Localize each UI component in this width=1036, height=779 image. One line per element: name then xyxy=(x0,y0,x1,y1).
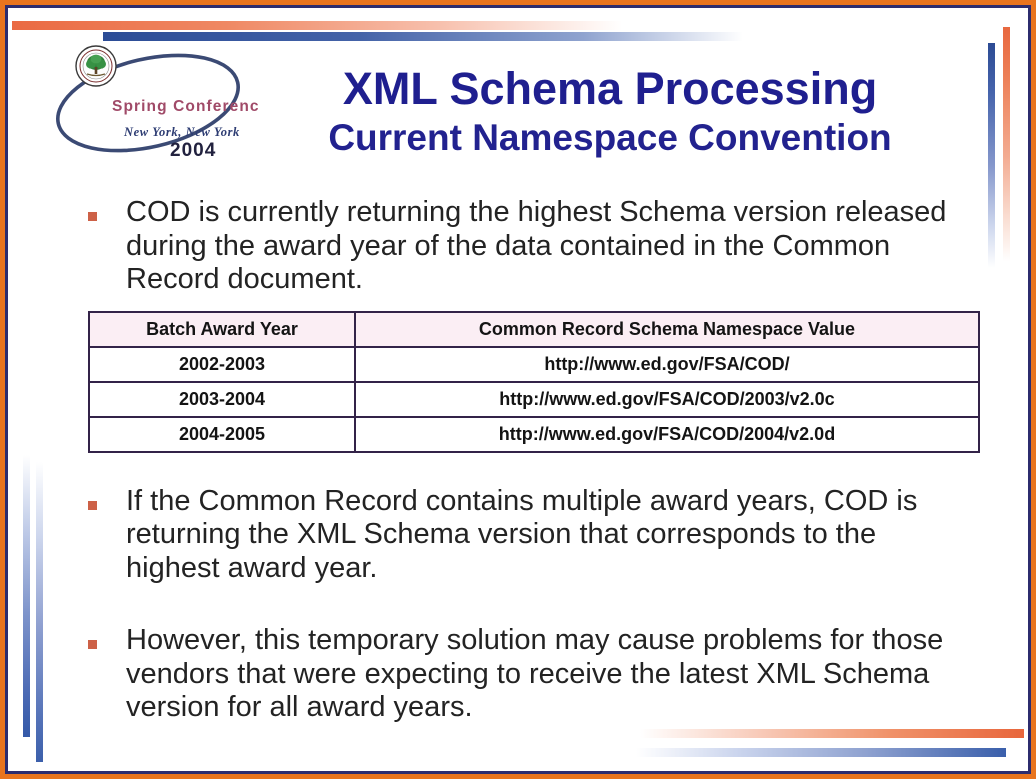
spacer-after-bullet-1 xyxy=(88,297,968,311)
right-blue-accent-bar xyxy=(988,43,995,268)
cell-namespace-value-3: http://www.ed.gov/FSA/COD/2004/v2.0d xyxy=(355,417,979,452)
table-header-row: Batch Award Year Common Record Schema Na… xyxy=(89,312,979,347)
logo-year-text: 2004 xyxy=(170,140,216,161)
left-blue-accent-bar-2 xyxy=(36,462,43,762)
top-orange-accent-bar xyxy=(12,21,622,30)
cell-namespace-value-1: http://www.ed.gov/FSA/COD/ xyxy=(355,347,979,382)
table-row: 2002-2003 http://www.ed.gov/FSA/COD/ xyxy=(89,347,979,382)
bottom-blue-accent-bar xyxy=(636,748,1006,757)
square-bullet-icon xyxy=(88,212,97,221)
square-bullet-icon xyxy=(88,501,97,510)
bullet-item-3-text: However, this temporary solution may cau… xyxy=(126,624,968,725)
spacer-after-bullet-2 xyxy=(88,585,968,624)
bullet-item-2-text: If the Common Record contains multiple a… xyxy=(126,485,968,586)
table-header-namespace-value: Common Record Schema Namespace Value xyxy=(355,312,979,347)
spring-conference-logo: Spring Conference New York, New York 200… xyxy=(48,44,260,162)
table-row: 2003-2004 http://www.ed.gov/FSA/COD/2003… xyxy=(89,382,979,417)
cell-award-year-1: 2002-2003 xyxy=(89,347,355,382)
logo-location-text: New York, New York xyxy=(123,125,240,139)
right-orange-accent-bar xyxy=(1003,27,1010,262)
bullet-item-2: If the Common Record contains multiple a… xyxy=(88,485,968,586)
square-bullet-icon xyxy=(88,640,97,649)
tree-seal-icon xyxy=(76,46,116,86)
namespace-table-wrapper: Batch Award Year Common Record Schema Na… xyxy=(88,311,974,453)
bullet-item-1-text: COD is currently returning the highest S… xyxy=(126,196,968,297)
slide-canvas: Spring Conference New York, New York 200… xyxy=(0,0,1036,779)
left-blue-accent-bar-1 xyxy=(23,455,30,737)
bullet-item-1: COD is currently returning the highest S… xyxy=(88,196,968,297)
namespace-table-head: Batch Award Year Common Record Schema Na… xyxy=(89,312,979,347)
cell-award-year-2: 2003-2004 xyxy=(89,382,355,417)
table-header-batch-award-year: Batch Award Year xyxy=(89,312,355,347)
slide-content: COD is currently returning the highest S… xyxy=(88,196,968,725)
spacer-after-table xyxy=(88,453,968,485)
table-row: 2004-2005 http://www.ed.gov/FSA/COD/2004… xyxy=(89,417,979,452)
bottom-orange-accent-bar xyxy=(640,729,1024,738)
page-title: XML Schema Processing Current Namespace … xyxy=(240,62,980,160)
cell-award-year-3: 2004-2005 xyxy=(89,417,355,452)
namespace-table-body: 2002-2003 http://www.ed.gov/FSA/COD/ 200… xyxy=(89,347,979,452)
title-line-secondary: Current Namespace Convention xyxy=(240,115,980,160)
top-blue-accent-bar xyxy=(103,32,743,41)
bullet-item-3: However, this temporary solution may cau… xyxy=(88,624,968,725)
logo-conference-text: Spring Conference xyxy=(112,98,260,115)
cell-namespace-value-2: http://www.ed.gov/FSA/COD/2003/v2.0c xyxy=(355,382,979,417)
title-line-primary: XML Schema Processing xyxy=(240,62,980,115)
namespace-table: Batch Award Year Common Record Schema Na… xyxy=(88,311,980,453)
